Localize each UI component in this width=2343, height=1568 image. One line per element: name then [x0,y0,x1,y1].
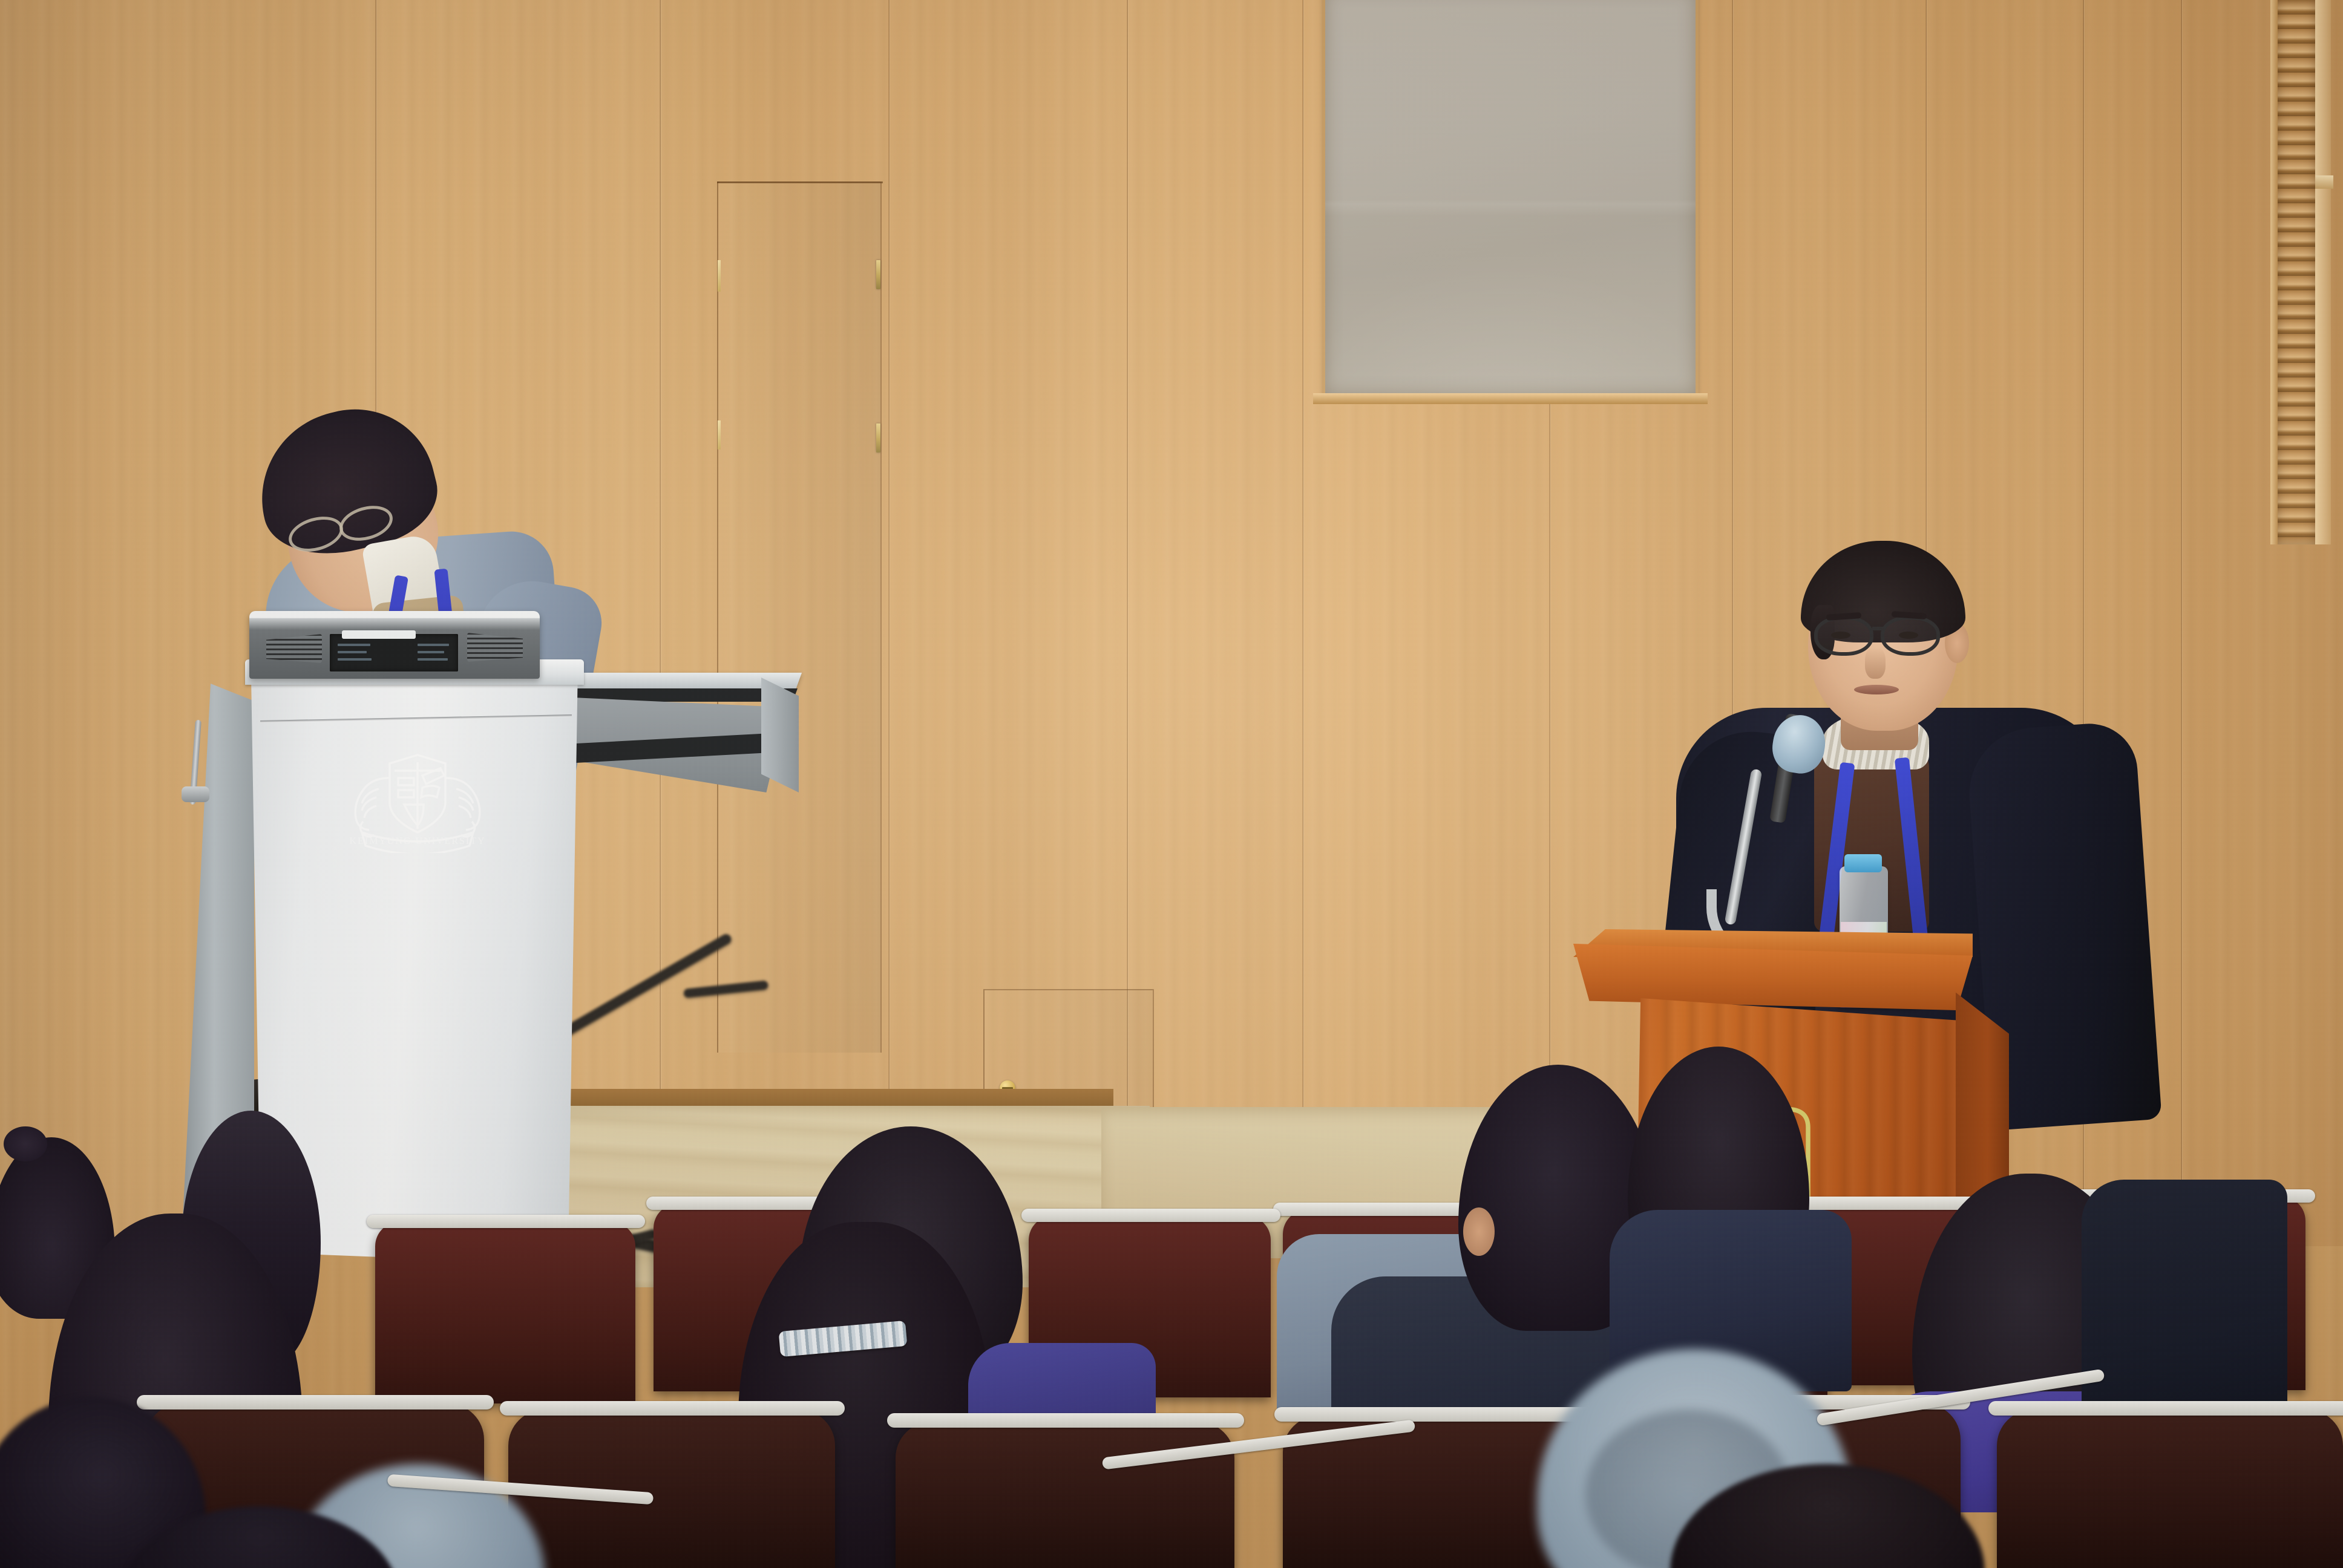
monitor-screen-textline [338,658,372,661]
speaker-right-mouth [1854,685,1899,694]
keimyung-university-crest: KEIMYUNG UNIVERSITY [327,744,508,853]
seat-rim [500,1401,845,1416]
monitor-screen-textline [338,644,370,646]
audience-person-jacket [2082,1180,2287,1434]
speaker-right-glasses-bridge-icon [1872,627,1883,630]
audience-person-bun-icon [4,1126,47,1161]
crest-text: KEIMYUNG UNIVERSITY [349,836,485,846]
lectern-microphone-base [182,786,209,802]
water-bottle-cap [1844,854,1882,872]
seat-rim [887,1413,1244,1428]
auditorium-seat [1997,1410,2343,1568]
seat-rim [1988,1401,2343,1416]
seat-rim [1021,1209,1280,1222]
audience-person-ear [1463,1207,1495,1256]
monitor-screen-textline [418,644,449,646]
monitor-screen-textline [418,651,444,653]
seat-rim [137,1395,494,1410]
monitor-screen-textline [338,651,367,653]
monitor-screen-textline [418,658,448,661]
monitor-indicator-strip [342,630,416,639]
lectern-shelf-side [761,678,799,792]
seat-rim [367,1215,645,1228]
speaker-right-eye [1899,632,1918,639]
auditorium-seat [896,1422,1234,1568]
auditorium-photo: KEIMYUNG UNIVERSITY [0,0,2343,1568]
speaker-right-nose [1865,647,1886,679]
auditorium-seat [375,1222,635,1403]
speaker-right-eye [1831,632,1850,639]
